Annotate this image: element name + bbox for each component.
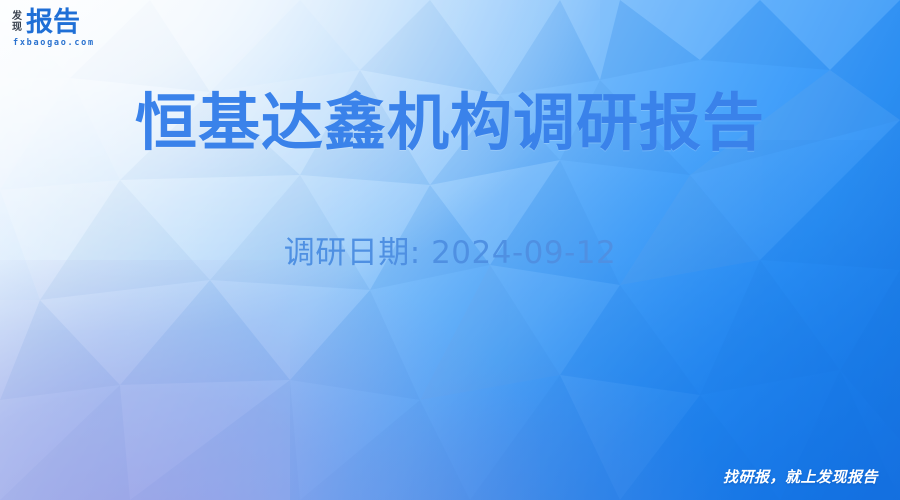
logo-mark-char-2: 现 xyxy=(12,22,22,33)
report-cover: 发 现 报告 fxbaogao.com 恒基达鑫机构调研报告 调研日期: 202… xyxy=(0,0,900,500)
logo-url: fxbaogao.com xyxy=(13,38,252,48)
logo-mark-char-1: 发 xyxy=(12,11,22,22)
site-logo[interactable]: 发 现 报告 fxbaogao.com xyxy=(12,9,252,57)
page-subtitle: 调研日期: 2024-09-12 xyxy=(0,233,900,273)
logo-wordmark: 报告 xyxy=(26,9,80,36)
footer-slogan: 找研报，就上发现报告 xyxy=(723,467,878,487)
logo-mark-fa-xian: 发 现 xyxy=(12,9,22,33)
page-title: 恒基达鑫机构调研报告 xyxy=(0,88,900,158)
logo-row: 发 现 报告 xyxy=(12,9,252,36)
